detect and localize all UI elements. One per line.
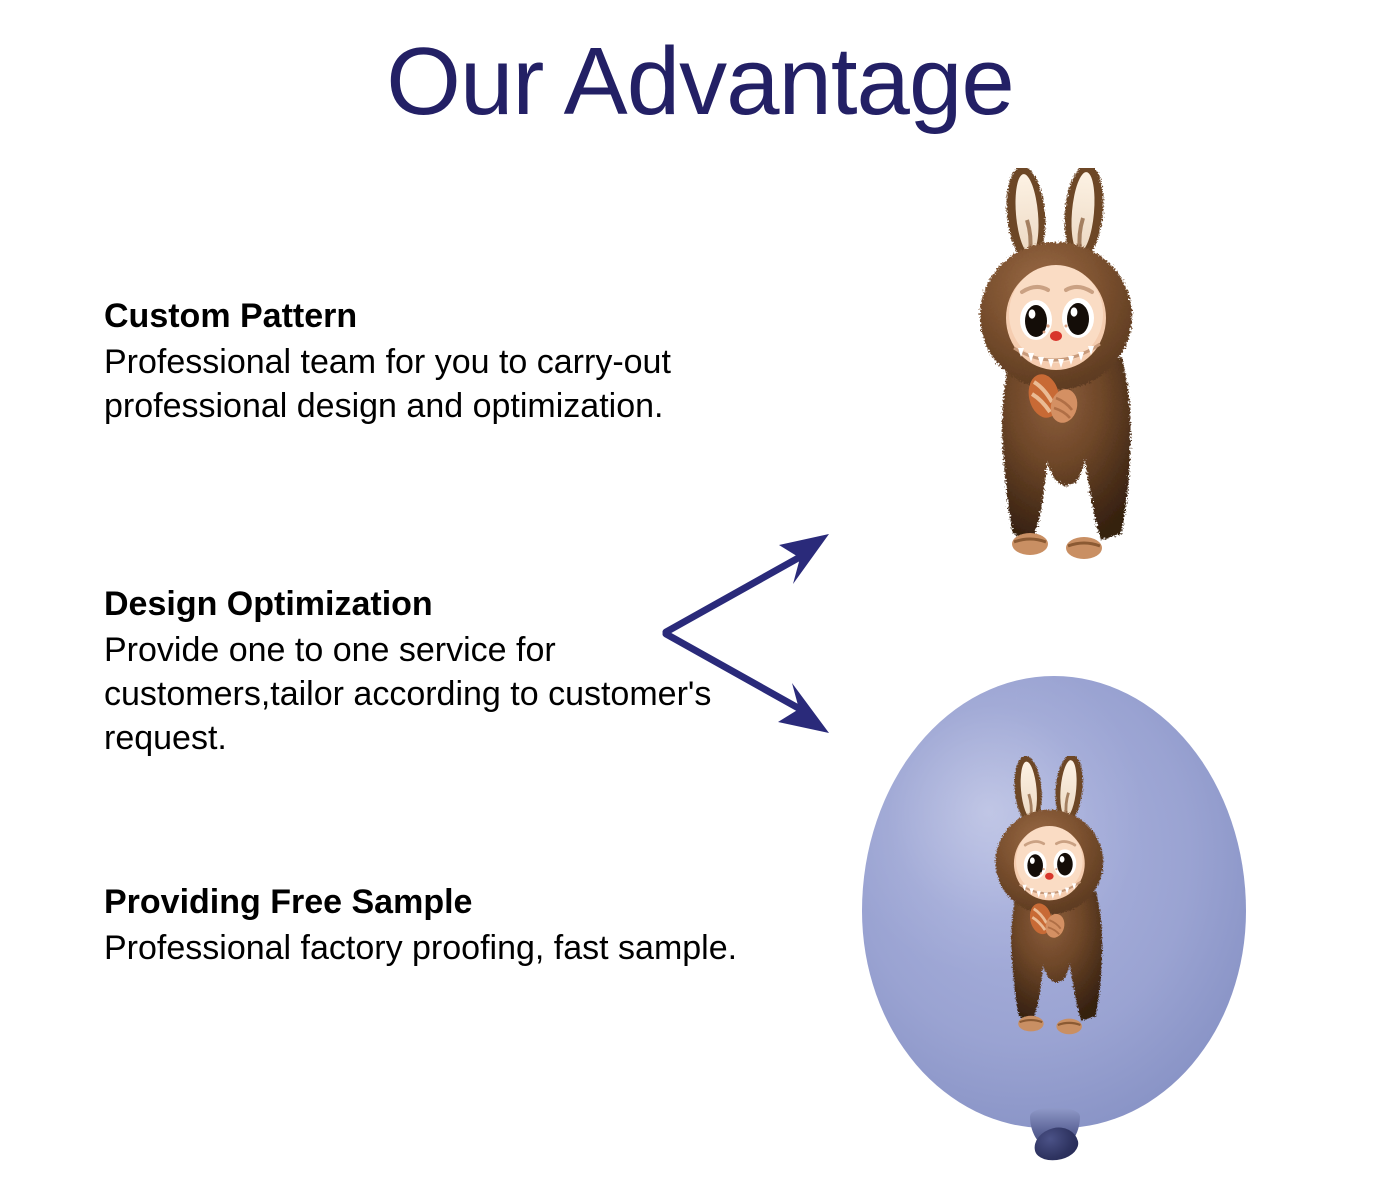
feature-body: Professional team for you to carry-out p… xyxy=(104,340,772,428)
feature-item-design-optimization: Design Optimization Provide one to one s… xyxy=(104,584,772,761)
furry-bunny-character-icon xyxy=(944,168,1184,588)
balloon-with-printed-character xyxy=(862,676,1252,1176)
character-feet xyxy=(1018,1016,1082,1034)
feature-body: Provide one to one service for customers… xyxy=(104,628,772,761)
page-title: Our Advantage xyxy=(0,34,1400,130)
feature-heading: Custom Pattern xyxy=(104,296,772,336)
feature-heading: Providing Free Sample xyxy=(104,882,737,922)
feature-item-providing-free-sample: Providing Free Sample Professional facto… xyxy=(104,882,737,970)
furry-bunny-character-icon xyxy=(970,756,1140,1056)
feature-body: Professional factory proofing, fast samp… xyxy=(104,926,737,970)
feature-heading: Design Optimization xyxy=(104,584,772,624)
character-feet xyxy=(1012,533,1102,559)
balloon-printed-character xyxy=(970,756,1140,1056)
feature-item-custom-pattern: Custom Pattern Professional team for you… xyxy=(104,296,772,428)
figure-bunny-character-top xyxy=(944,168,1184,588)
